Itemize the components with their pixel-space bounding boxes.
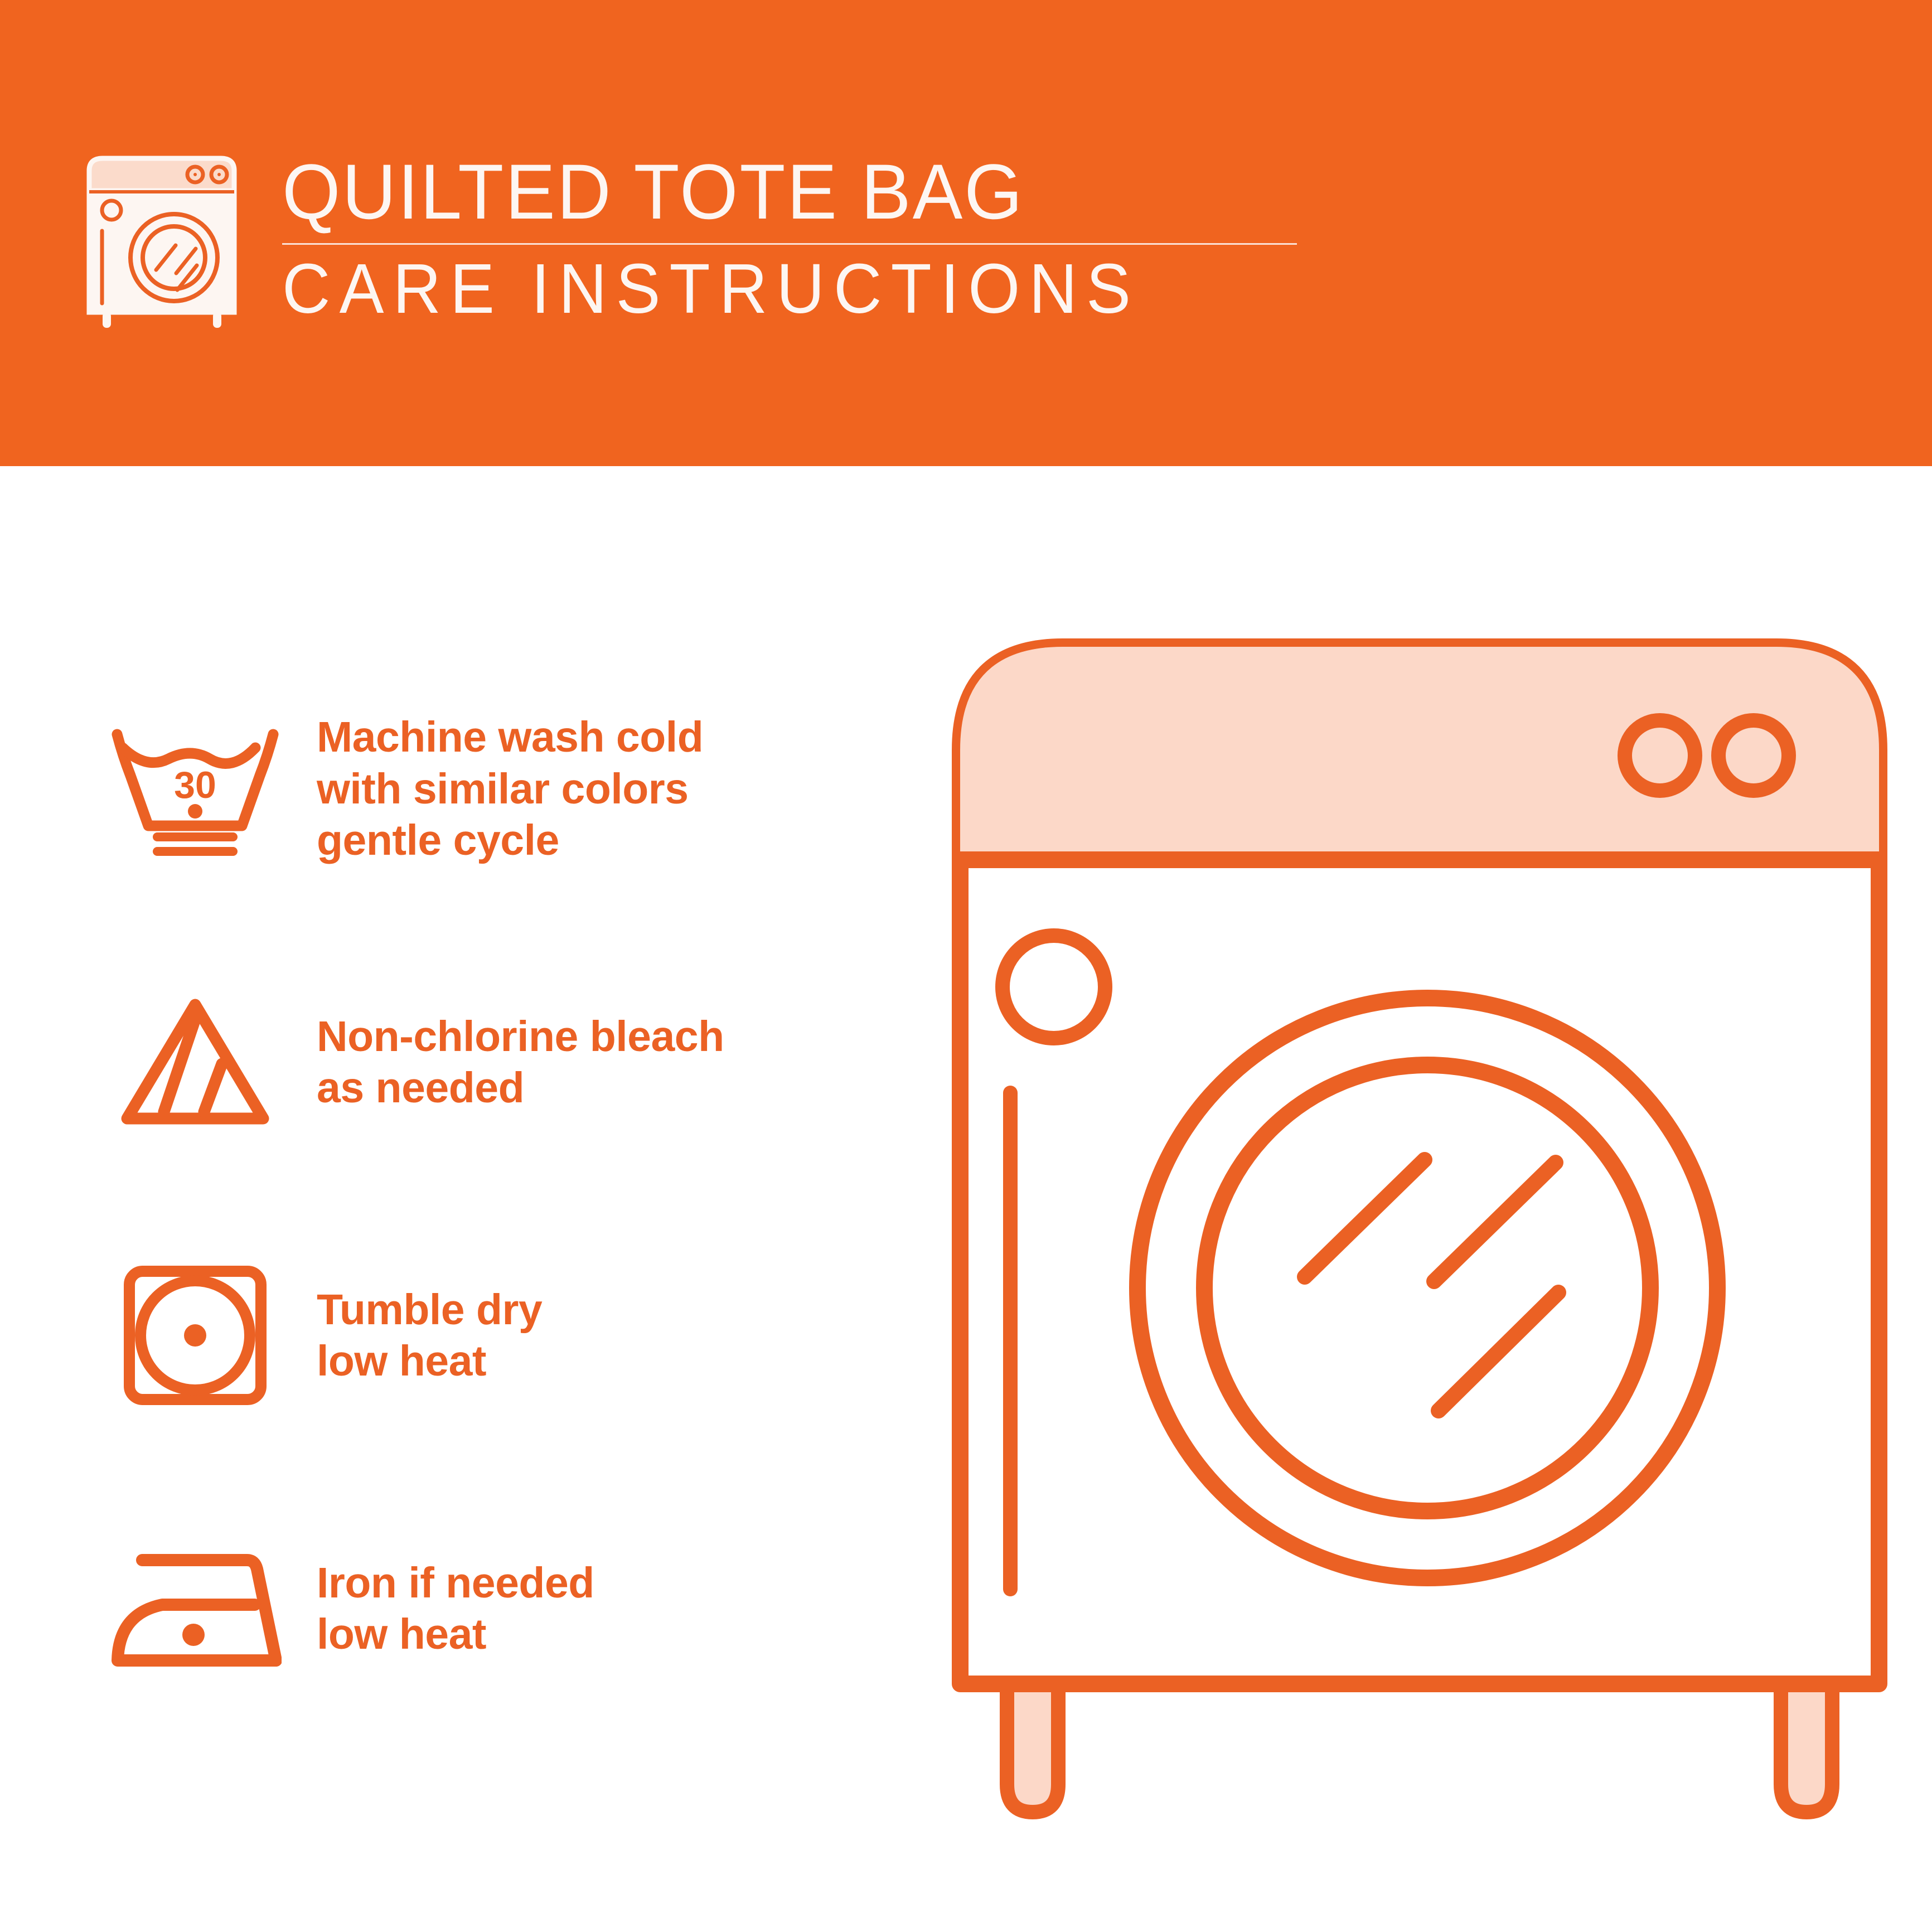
care-item-label: Machine wash cold with similar colors ge… [317, 711, 703, 866]
care-instructions-list: 30 Machine wash cold with similar colors… [84, 652, 920, 1745]
care-item-machine-wash: 30 Machine wash cold with similar colors… [84, 652, 920, 926]
washing-machine-illustration [948, 608, 1896, 1857]
non-chlorine-bleach-triangle-icon [84, 992, 307, 1132]
control-knob-right [1718, 720, 1789, 791]
care-item-label: Non-chlorine bleach as needed [317, 1011, 724, 1114]
care-item-iron: Iron if needed low heat [84, 1472, 920, 1745]
tumble-dry-low-icon [84, 1260, 307, 1411]
page-header: QUILTED TOTE BAG CARE INSTRUCTIONS [0, 0, 1932, 466]
care-line: Machine wash cold [317, 711, 703, 763]
page-title: QUILTED TOTE BAG [282, 153, 1256, 240]
iron-low-heat-icon [84, 1539, 307, 1678]
care-line: Non-chlorine bleach [317, 1011, 724, 1062]
header-title-group: QUILTED TOTE BAG CARE INSTRUCTIONS [282, 153, 1297, 324]
wash-tub-30-gentle-icon: 30 [84, 722, 307, 856]
care-line: low heat [317, 1609, 594, 1660]
care-item-tumble-dry: Tumble dry low heat [84, 1199, 920, 1472]
control-knob-left [1625, 720, 1695, 791]
title-divider [282, 243, 1297, 245]
wash-temperature-label: 30 [174, 764, 216, 806]
care-line: low heat [317, 1335, 542, 1387]
care-item-label: Iron if needed low heat [317, 1557, 594, 1660]
care-line: Tumble dry [317, 1284, 542, 1335]
care-line: gentle cycle [317, 815, 703, 866]
leg-left [1007, 1684, 1058, 1812]
washing-machine-icon [78, 146, 245, 330]
leg-right [1781, 1684, 1832, 1812]
care-item-bleach: Non-chlorine bleach as needed [84, 926, 920, 1199]
care-item-label: Tumble dry low heat [317, 1284, 542, 1387]
page-subtitle: CARE INSTRUCTIONS [282, 254, 1246, 324]
care-line: Iron if needed [317, 1557, 594, 1609]
header-content: QUILTED TOTE BAG CARE INSTRUCTIONS [78, 146, 1297, 330]
care-line: with similar colors [317, 763, 703, 815]
care-line: as needed [317, 1062, 724, 1113]
